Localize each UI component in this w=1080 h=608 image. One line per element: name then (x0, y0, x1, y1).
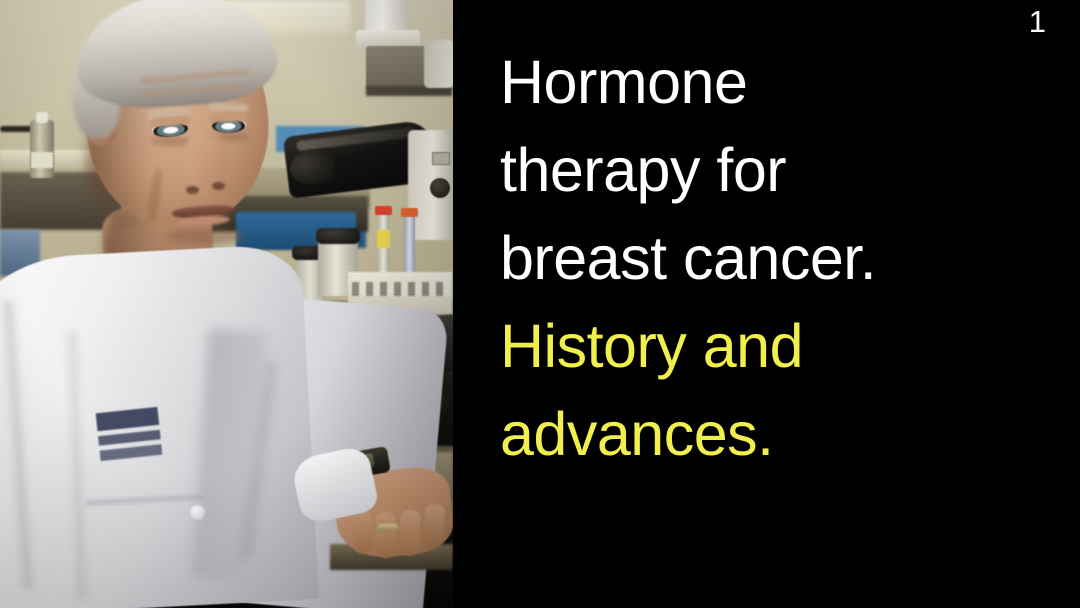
test-tube-rack-holes (352, 282, 450, 296)
photo-stage (0, 0, 453, 608)
microscope-turret (424, 40, 453, 88)
eyelid-right (210, 112, 248, 122)
reagent-bottle-cap (36, 112, 48, 123)
slide-number: 1 (1029, 6, 1046, 37)
slide-title: Hormone therapy for breast cancer. Histo… (500, 38, 1040, 478)
title-panel: 1 Hormone therapy for breast cancer. His… (453, 0, 1080, 608)
wedding-ring (378, 524, 398, 531)
title-line-3: breast cancer. (500, 214, 1040, 302)
test-tube-label-yellow (377, 230, 390, 248)
microscope-focus-knob (430, 178, 450, 198)
test-tube-orange-cap (401, 208, 418, 217)
finger (399, 510, 421, 557)
reagent-bottle-left (30, 120, 54, 178)
title-line-4: History and (500, 302, 1040, 390)
lab-bottle-large-cap (316, 228, 360, 244)
coat-button (190, 505, 205, 520)
reagent-bottle-label (31, 152, 53, 168)
title-line-1: Hormone (500, 38, 1040, 126)
eyebrow-right (208, 103, 248, 111)
microscope-stage-control (432, 152, 450, 165)
presentation-slide: 1 Hormone therapy for breast cancer. His… (0, 0, 1080, 608)
nostril-left (186, 186, 199, 194)
title-line-5: advances. (500, 390, 1040, 478)
title-line-2: therapy for (500, 126, 1040, 214)
embroidered-coat-logo (96, 407, 163, 461)
chin-shadow (166, 228, 244, 244)
nostril-right (212, 182, 225, 190)
test-tube-orange (404, 214, 415, 280)
test-tube-red-cap (375, 206, 392, 215)
finger (375, 512, 397, 559)
speaker-photo (0, 0, 453, 608)
